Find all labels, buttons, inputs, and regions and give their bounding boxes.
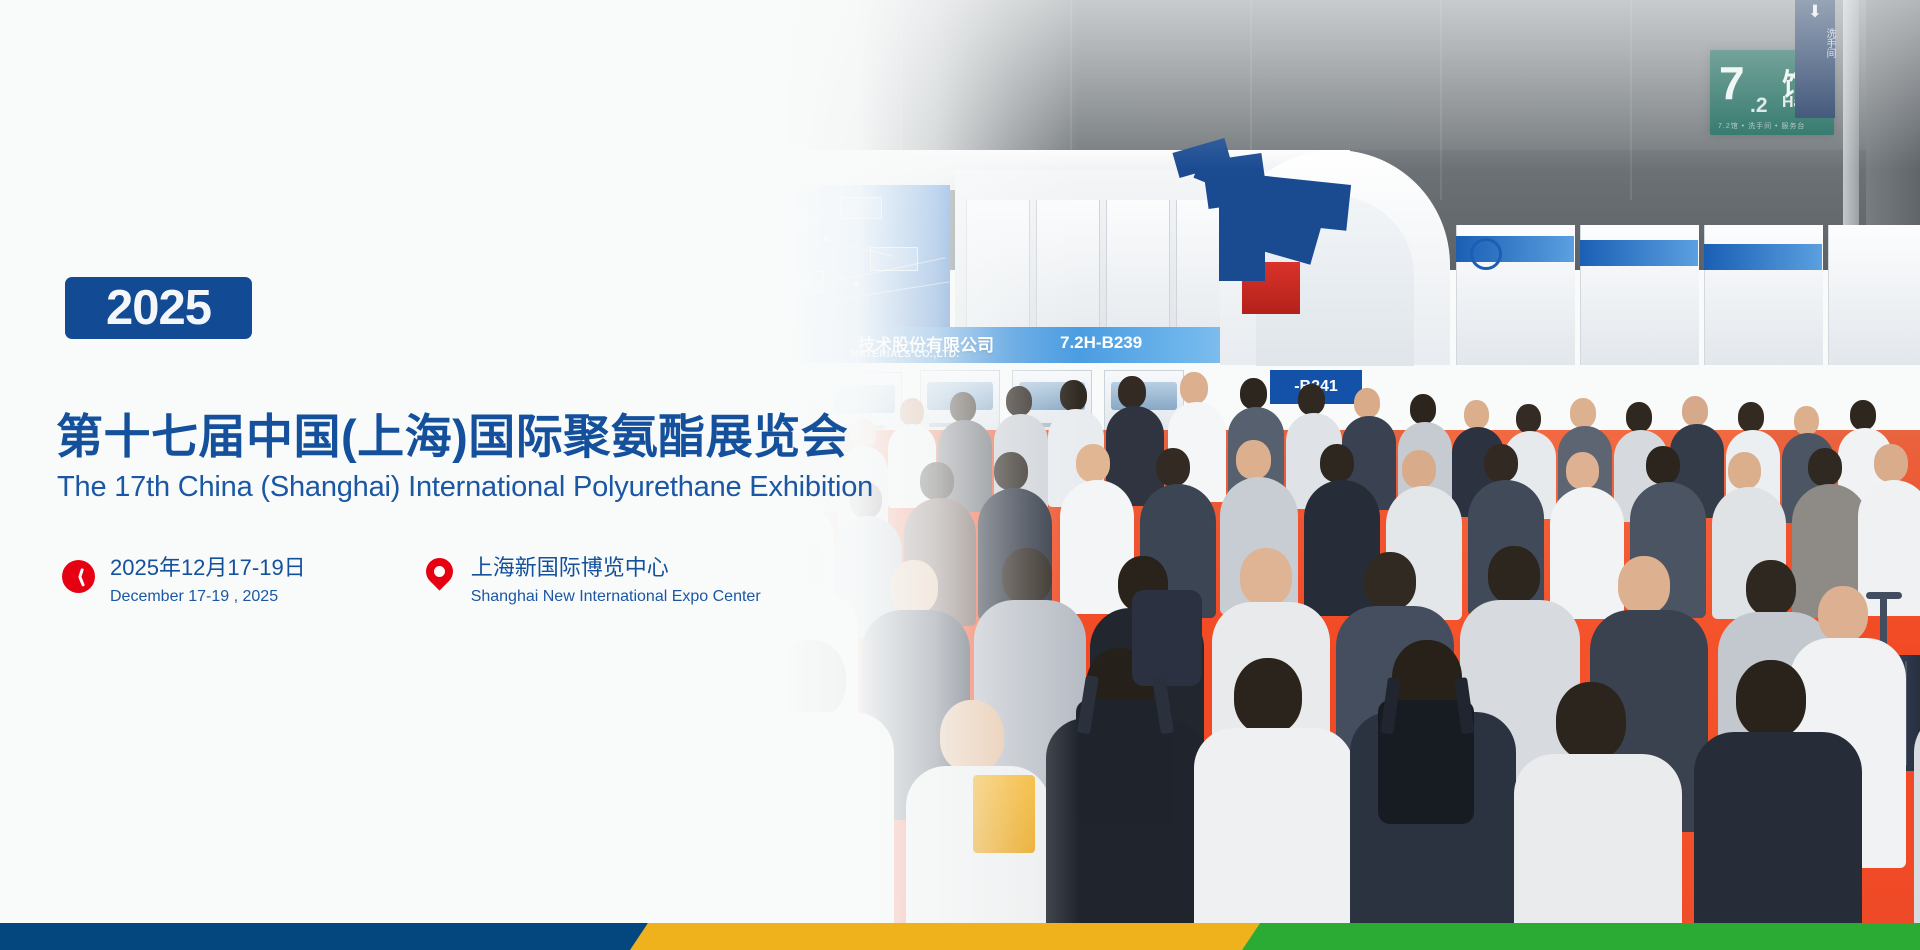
page-title-en: The 17th China (Shanghai) International …	[57, 471, 873, 504]
booth-panel	[966, 200, 1030, 340]
ceiling-seam	[1630, 0, 1632, 200]
restroom-icon: ⬇	[1795, 2, 1835, 22]
far-booth-logo	[1470, 238, 1502, 270]
far-booth-band	[1580, 240, 1698, 266]
year-badge: 2025	[65, 277, 252, 339]
restroom-sign: ⬇ 洗手间	[1795, 0, 1835, 118]
map-pin-icon	[421, 555, 457, 599]
year-badge-label: 2025	[106, 284, 211, 333]
blue-sculpture	[1175, 145, 1365, 280]
event-venue-text: 上海新国际博览中心 Shanghai New International Exp…	[471, 555, 761, 608]
map-pin-icon-shape	[420, 552, 458, 590]
far-booth-band	[1704, 244, 1822, 270]
event-info-row: 2025年12月17-19日 December 17-19 , 2025 上海新…	[60, 555, 761, 608]
exhibition-hall-photo: 7 .2 馆 Hall 7.2馆 • 洗手间 • 服务台 ⬇ 洗手间	[780, 0, 1920, 925]
ceiling-seam	[1440, 0, 1442, 200]
event-venue-en: Shanghai New International Expo Center	[471, 586, 761, 608]
bottom-bar-green-segment	[1242, 923, 1920, 950]
booth-led-screen	[780, 185, 950, 330]
booth-panel	[1106, 200, 1170, 340]
booth-panel	[1036, 200, 1100, 340]
event-date-item: 2025年12月17-19日 December 17-19 , 2025	[60, 555, 306, 608]
booth-stand-number: 7.2H-B239	[1060, 333, 1142, 353]
restroom-sign-label: 洗手间	[1795, 28, 1835, 58]
booth-company-en: MATERIALS CO.,LTD.	[850, 349, 960, 360]
exhibition-banner: 7 .2 馆 Hall 7.2馆 • 洗手间 • 服务台 ⬇ 洗手间	[0, 0, 1920, 950]
shopping-bag	[973, 775, 1035, 853]
page-title-cn: 第十七届中国(上海)国际聚氨酯展览会	[56, 398, 848, 467]
clock-icon	[60, 555, 96, 599]
hall-sign-footnote: 7.2馆 • 洗手间 • 服务台	[1718, 121, 1805, 131]
clock-icon-minute-hand	[78, 575, 85, 586]
screen-graphic-dot	[854, 281, 859, 286]
hall-sign-number: 7	[1719, 60, 1744, 106]
event-date-text: 2025年12月17-19日 December 17-19 , 2025	[110, 555, 306, 608]
backpack	[1132, 590, 1202, 686]
photo-inner: 7 .2 馆 Hall 7.2馆 • 洗手间 • 服务台 ⬇ 洗手间	[780, 0, 1920, 925]
far-booth	[1828, 225, 1920, 365]
hall-sign-decimal: .2	[1750, 94, 1768, 118]
bottom-bar-yellow-segment	[630, 923, 1260, 950]
event-date-en: December 17-19 , 2025	[110, 586, 306, 608]
bottom-color-bar	[0, 923, 1920, 950]
event-venue-cn: 上海新国际博览中心	[471, 555, 761, 581]
bottom-bar-blue-segment	[0, 923, 660, 950]
clock-icon-face	[62, 560, 95, 593]
event-venue-item: 上海新国际博览中心 Shanghai New International Exp…	[421, 555, 761, 608]
event-date-cn: 2025年12月17-19日	[110, 555, 306, 581]
